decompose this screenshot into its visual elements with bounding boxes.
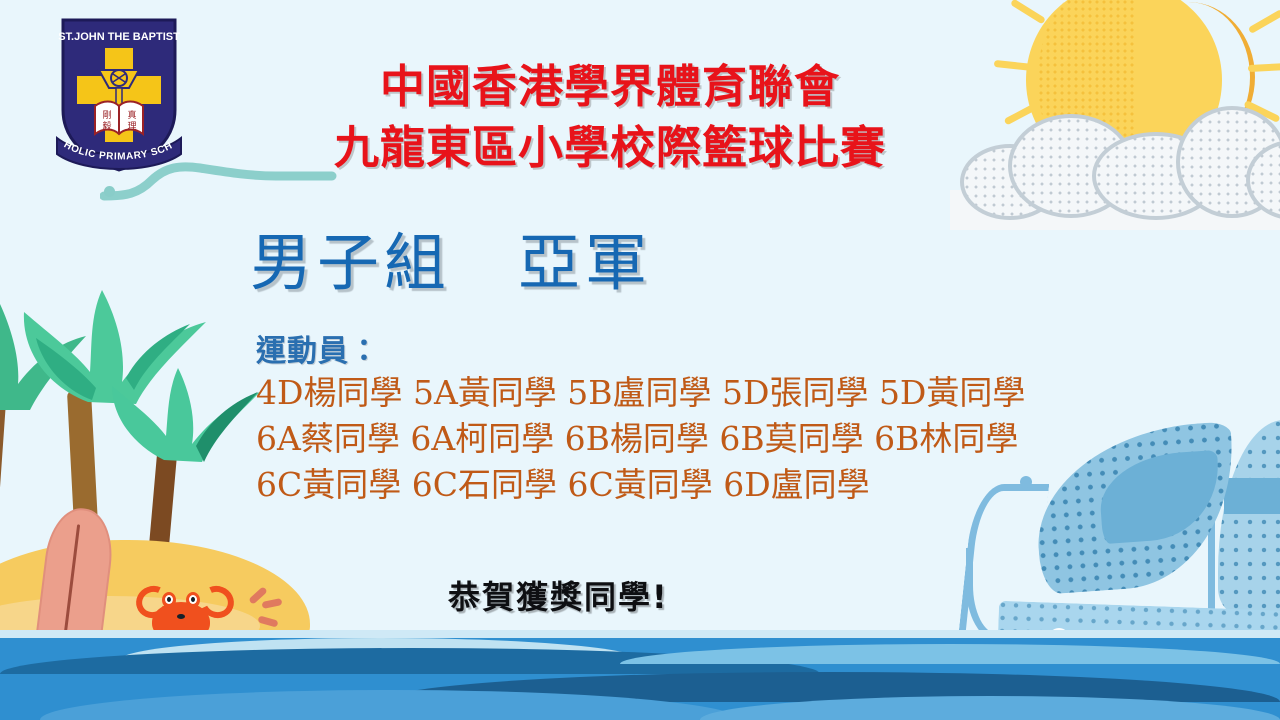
logo-book-char-3: 真 <box>127 109 136 121</box>
sand-dash-decoration <box>248 586 268 605</box>
wave-decoration <box>40 690 740 720</box>
crab-leg <box>167 638 173 652</box>
surfboard-icon <box>33 505 118 668</box>
crab-claw <box>132 581 175 623</box>
list-item: 6A蔡同學 6A柯同學 6B楊同學 6B莫同學 6B林同學 <box>256 416 1025 462</box>
award-title: 男子組 亞軍 <box>250 212 652 302</box>
sun-ray-icon <box>1248 9 1280 34</box>
crab-leg <box>191 638 197 652</box>
sun-ray-icon <box>1248 63 1280 72</box>
award-poster: ST.JOHN THE BAPTIST 剛 毅 真 理 CATHOLIC PRI… <box>0 0 1280 720</box>
surfboard-stripe <box>63 524 80 641</box>
logo-book-char-2: 毅 <box>102 120 111 132</box>
sun-icon <box>1026 0 1222 178</box>
logo-top-text: ST.JOHN THE BAPTIST <box>58 31 180 43</box>
headline-line-2: 九龍東區小學校際籃球比賽 <box>200 117 1020 178</box>
sand-dash-decoration <box>261 598 282 609</box>
sun-ray-icon <box>1226 135 1254 168</box>
wave-decoration <box>120 638 640 660</box>
crab-eye <box>162 592 176 608</box>
logo-book-char-1: 剛 <box>102 110 111 121</box>
congratulations-message: 恭賀獲獎同學! <box>448 572 669 618</box>
crab-eye <box>186 592 200 608</box>
crab-icon <box>152 602 210 642</box>
wave-decoration <box>620 644 1280 664</box>
crab-leg <box>200 636 209 650</box>
crab-mouth <box>177 614 185 619</box>
sea-foam-line <box>0 630 1280 638</box>
logo-book-char-4: 理 <box>127 121 136 132</box>
sea-band <box>0 630 1280 720</box>
wave-decoration <box>0 648 820 674</box>
squiggle-dot-decoration <box>104 186 115 197</box>
athletes-roster: 4D楊同學 5A黃同學 5B盧同學 5D張同學 5D黃同學 6A蔡同學 6A柯同… <box>256 370 1025 509</box>
school-logo: ST.JOHN THE BAPTIST 剛 毅 真 理 CATHOLIC PRI… <box>55 14 183 174</box>
sun-ray-icon <box>1243 100 1280 123</box>
event-headline: 中國香港學界體育聯會 九龍東區小學校際籃球比賽 <box>200 56 1020 178</box>
sand-dash-decoration <box>257 615 278 627</box>
crab-claw <box>196 581 239 623</box>
list-item: 4D楊同學 5A黃同學 5B盧同學 5D張同學 5D黃同學 <box>256 370 1025 416</box>
palm-tree-icon <box>0 250 260 670</box>
sun-ray-icon <box>1193 173 1207 200</box>
headline-line-1: 中國香港學界體育聯會 <box>200 56 1020 117</box>
sand-island <box>0 540 310 670</box>
sand-highlight <box>0 596 260 656</box>
list-item: 6C黃同學 6C石同學 6C黃同學 6D盧同學 <box>256 462 1025 508</box>
sun-arc-decoration <box>1160 2 1255 152</box>
crab-leg <box>156 636 165 650</box>
athletes-label: 運動員： <box>256 326 380 370</box>
wave-decoration <box>380 672 1280 702</box>
wave-decoration <box>700 696 1280 720</box>
sun-ray-icon <box>1010 0 1046 25</box>
cloud-base <box>950 190 1280 230</box>
